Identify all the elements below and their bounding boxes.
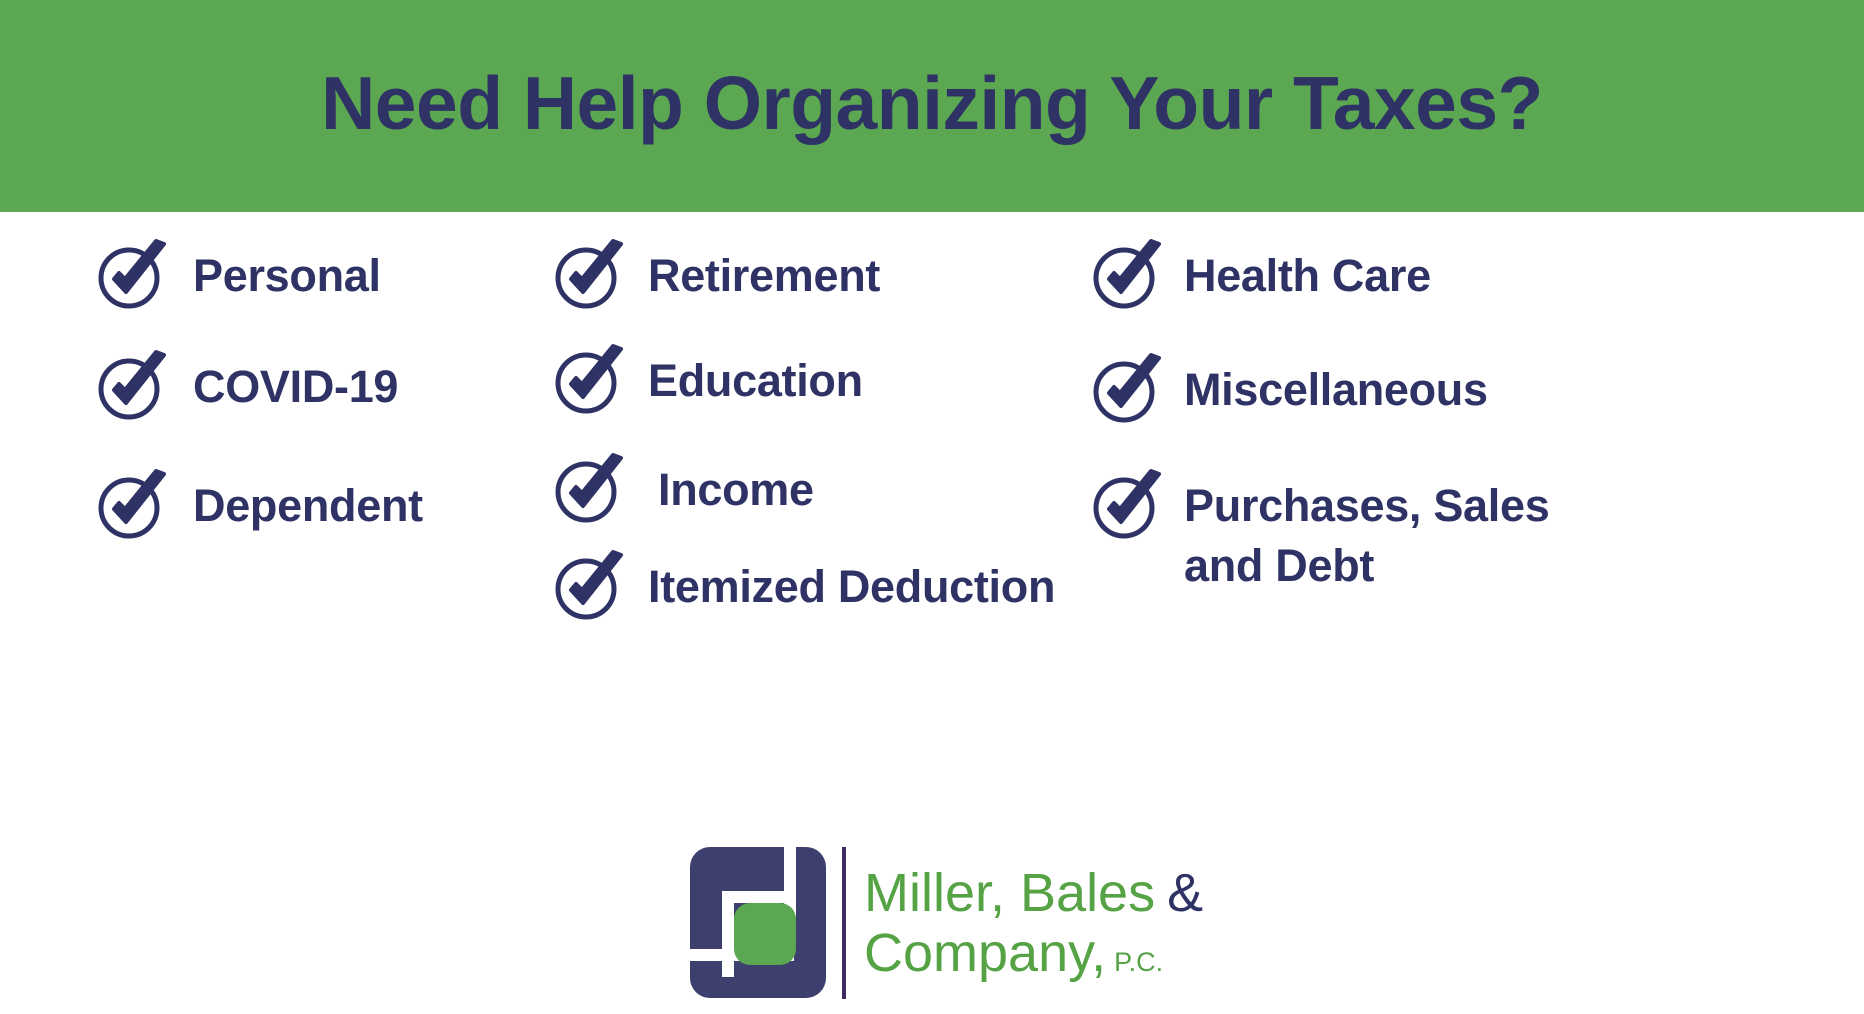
check-circle-icon xyxy=(552,452,626,526)
list-item: Education xyxy=(552,343,863,417)
check-circle-icon xyxy=(95,238,169,312)
list-item: Retirement xyxy=(552,238,880,312)
list-item-label: Itemized Deduction xyxy=(648,557,1055,617)
logo-text-company: Company, xyxy=(864,926,1106,980)
checklist-section: Personal COVID-19 Dependent Retirement xyxy=(0,212,1864,802)
check-circle-icon xyxy=(1090,352,1164,426)
list-item-label: Miscellaneous xyxy=(1184,360,1488,420)
logo-ampersand: & xyxy=(1167,866,1203,920)
logo-mark-icon xyxy=(688,845,828,1000)
logo-text-miller-bales: Miller, Bales xyxy=(864,866,1155,920)
list-item: Dependent xyxy=(95,468,423,542)
list-item-label: Health Care xyxy=(1184,246,1431,306)
check-circle-icon xyxy=(95,468,169,542)
list-item-label: Personal xyxy=(193,246,381,306)
list-item: Personal xyxy=(95,238,381,312)
logo-line-2: Company, P.C. xyxy=(864,926,1203,980)
list-item-label: Dependent xyxy=(193,476,423,536)
logo-text-pc: P.C. xyxy=(1114,949,1163,976)
list-item: Health Care xyxy=(1090,238,1431,312)
company-logo: Miller, Bales & Company, P.C. xyxy=(688,840,1158,1005)
logo-wordmark: Miller, Bales & Company, P.C. xyxy=(864,866,1203,980)
list-item: Miscellaneous xyxy=(1090,352,1488,426)
check-circle-icon xyxy=(552,343,626,417)
check-circle-icon xyxy=(95,349,169,423)
header-banner: Need Help Organizing Your Taxes? xyxy=(0,0,1864,212)
page-title: Need Help Organizing Your Taxes? xyxy=(321,66,1543,147)
check-circle-icon xyxy=(1090,468,1164,542)
list-item: Itemized Deduction xyxy=(552,549,1055,623)
logo-line-1: Miller, Bales & xyxy=(864,866,1203,920)
check-circle-icon xyxy=(552,549,626,623)
list-item-label: Income xyxy=(658,460,814,520)
list-item-label: Retirement xyxy=(648,246,880,306)
list-item-label: Education xyxy=(648,351,863,411)
list-item: Purchases, Sales and Debt xyxy=(1090,468,1549,596)
check-circle-icon xyxy=(1090,238,1164,312)
list-item: Income xyxy=(552,452,814,526)
check-circle-icon xyxy=(552,238,626,312)
logo-divider xyxy=(842,847,846,999)
list-item: COVID-19 xyxy=(95,349,398,423)
list-item-label: Purchases, Sales and Debt xyxy=(1184,476,1549,596)
list-item-label: COVID-19 xyxy=(193,357,398,417)
